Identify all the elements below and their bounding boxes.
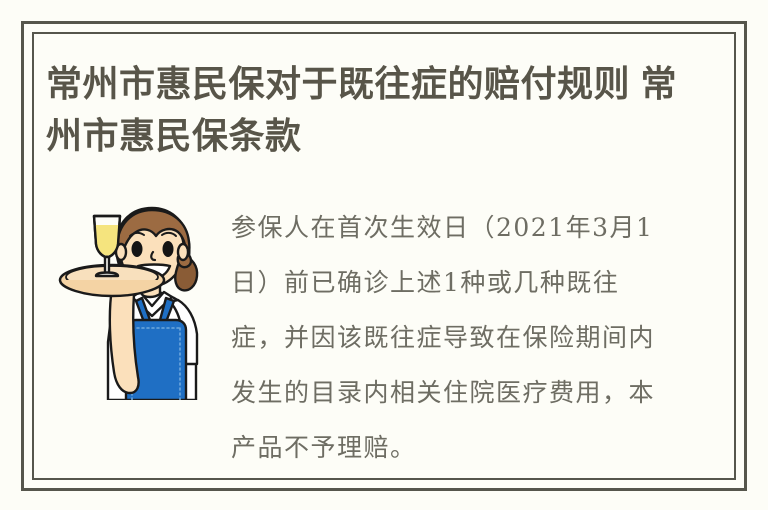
article-card: 常州市惠民保对于既往症的赔付规则 常州市惠民保条款	[0, 0, 768, 510]
page-title-text: 常州市惠民保对于既往症的赔付规则 常州市惠民保条款	[46, 63, 677, 156]
card-content: 常州市惠民保对于既往症的赔付规则 常州市惠民保条款	[32, 32, 736, 480]
page-title: 常州市惠民保对于既往症的赔付规则 常州市惠民保条款	[46, 58, 686, 162]
waitress-with-tray-icon	[56, 194, 204, 400]
body-paragraph: 参保人在首次生效日（2021年3月1日）前已确诊上述1种或几种既往症，并因该既往…	[231, 200, 655, 475]
card-body-row: 参保人在首次生效日（2021年3月1日）前已确诊上述1种或几种既往症，并因该既往…	[32, 192, 736, 452]
